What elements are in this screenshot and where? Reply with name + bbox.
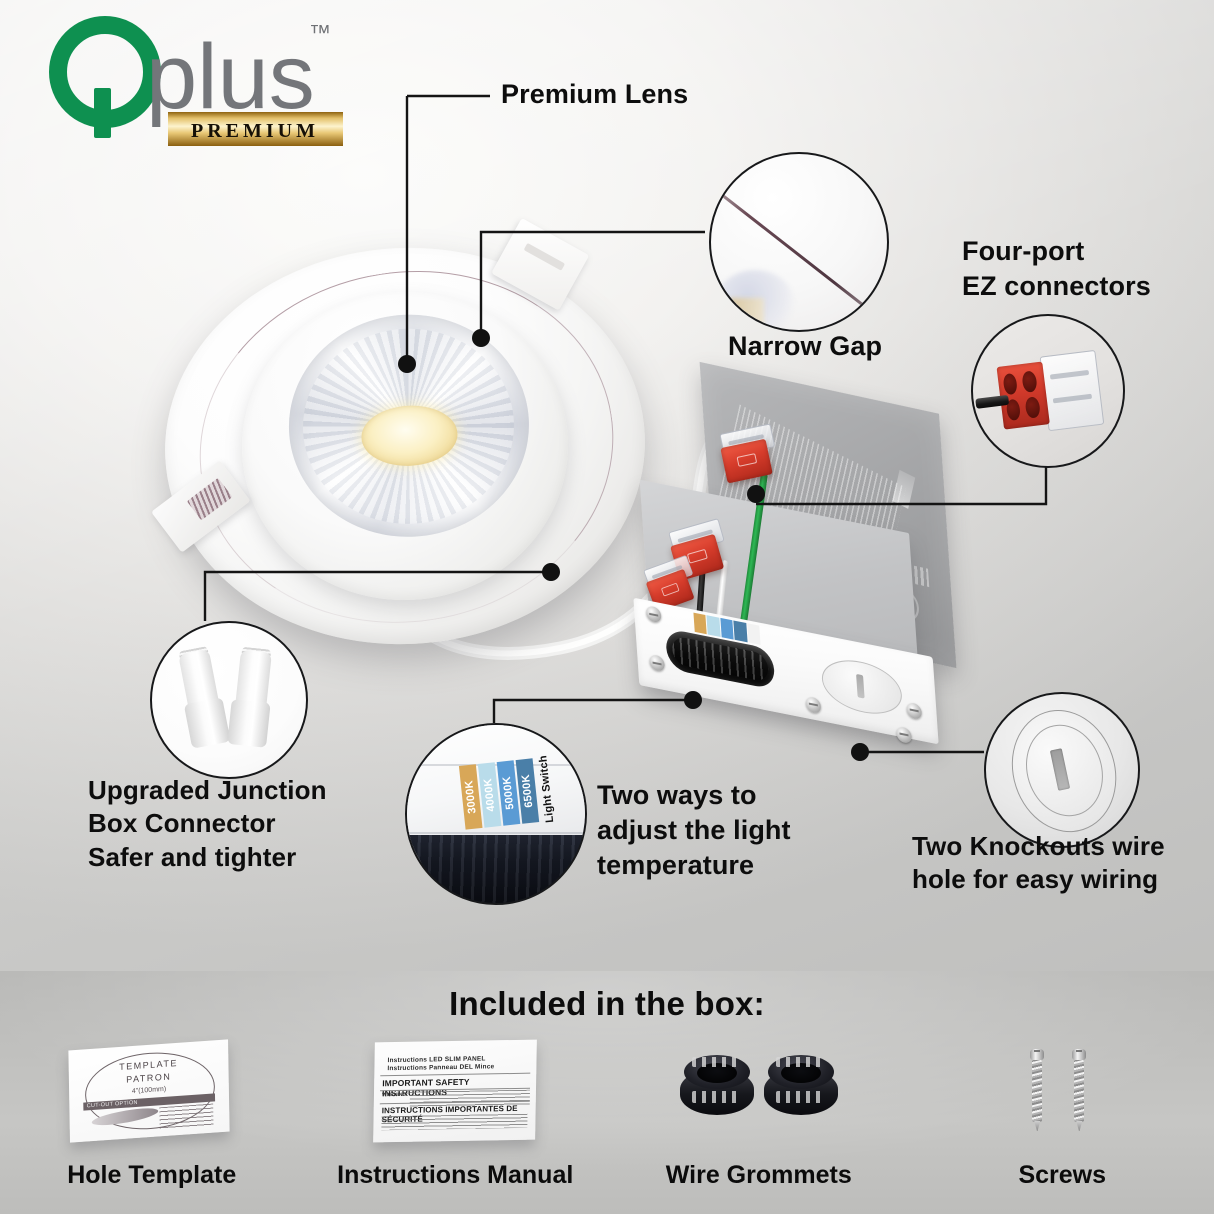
logo-trademark: ™ (309, 20, 331, 45)
infographic-canvas: plus ™ PREMIUM (0, 0, 1214, 1214)
included-item-hole-template: TEMPLATE PATRON 4"(100mm) CUT-OUT OPTION… (0, 1035, 304, 1214)
wire-grommets-art (654, 1035, 864, 1147)
screw-right (1071, 1049, 1087, 1133)
grommet-right (764, 1055, 838, 1121)
cct-color-strip: 3000K 4000K 5000K 6500K Light Switch (459, 756, 558, 829)
label-two-ways-adjust-temperature: Two ways to adjust the light temperature (597, 778, 791, 883)
label-four-port-line2: EZ connectors (962, 269, 1151, 304)
caption-instructions-manual: Instructions Manual (337, 1161, 573, 1190)
junction-connector-magnifier (150, 621, 308, 779)
grommet-left (680, 1055, 754, 1121)
ez-connector-magnifier (971, 314, 1125, 468)
hole-template-art: TEMPLATE PATRON 4"(100mm) CUT-OUT OPTION (47, 1035, 257, 1147)
narrow-gap-magnifier (709, 152, 889, 332)
included-item-screws: Screws (911, 1035, 1214, 1214)
label-twoways-line2: adjust the light (597, 813, 791, 848)
label-junction-line1: Upgraded Junction (88, 774, 327, 807)
included-items-row: TEMPLATE PATRON 4"(100mm) CUT-OUT OPTION… (0, 1035, 1214, 1214)
label-twoways-line3: temperature (597, 848, 791, 883)
label-junction-line3: Safer and tighter (88, 841, 327, 874)
brand-logo: plus ™ PREMIUM (28, 10, 373, 160)
cct-switch-magnifier: 3000K 4000K 5000K 6500K Light Switch (405, 723, 587, 905)
label-premium-lens: Premium Lens (501, 78, 688, 110)
included-in-box-title: Included in the box: (0, 985, 1214, 1023)
caption-wire-grommets: Wire Grommets (666, 1161, 852, 1190)
manual-head-fr: Instructions Panneau DEL Mince (388, 1063, 495, 1072)
label-junction-line2: Box Connector (88, 807, 327, 840)
label-knockouts-line2: hole for easy wiring (912, 863, 1165, 896)
knockout-magnifier (984, 692, 1140, 848)
label-twoways-line1: Two ways to (597, 778, 791, 813)
female-connector (227, 649, 275, 748)
caption-screws: Screws (1018, 1161, 1106, 1190)
manual-warning: WARNING: (382, 1092, 408, 1098)
label-four-port-line1: Four-port (962, 234, 1151, 269)
included-item-wire-grommets: Wire Grommets (607, 1035, 911, 1214)
label-knockouts-line1: Two Knockouts wire (912, 830, 1165, 863)
label-four-port-ez-connectors: Four-port EZ connectors (962, 234, 1151, 304)
logo-premium-text: PREMIUM (191, 120, 319, 142)
label-upgraded-junction-box-connector: Upgraded Junction Box Connector Safer an… (88, 774, 327, 874)
screw-left (1029, 1049, 1045, 1133)
included-item-instructions-manual: Instructions LED SLIM PANEL Instructions… (304, 1035, 608, 1214)
logo-q-mark (58, 25, 152, 138)
screws-art (957, 1035, 1167, 1147)
label-two-knockouts: Two Knockouts wire hole for easy wiring (912, 830, 1165, 897)
male-connector (174, 648, 230, 749)
instructions-manual-art: Instructions LED SLIM PANEL Instructions… (350, 1035, 560, 1147)
caption-hole-template: Hole Template (67, 1161, 236, 1190)
label-narrow-gap: Narrow Gap (728, 330, 882, 362)
